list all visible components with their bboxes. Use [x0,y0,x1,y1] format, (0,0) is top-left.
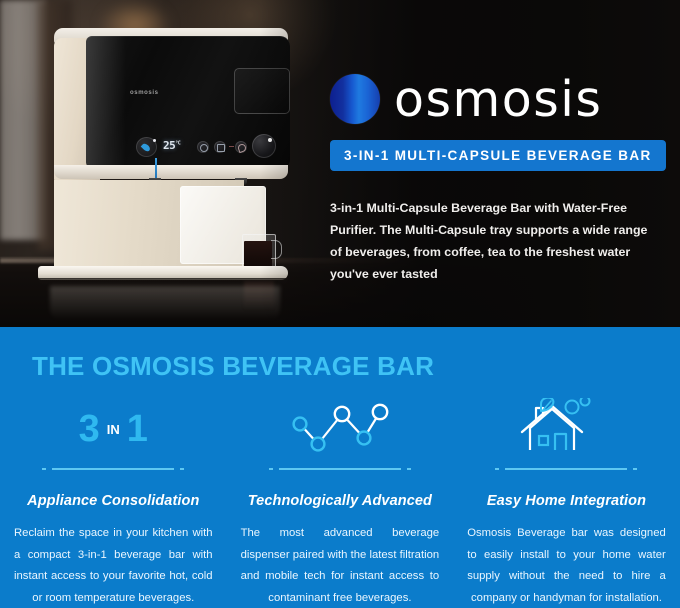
power-icon [200,144,208,152]
feature-title: Appliance Consolidation [14,493,213,509]
divider-tip-left [42,468,46,470]
feature-body: The most advanced beverage dispenser pai… [241,523,440,608]
steam-button [235,141,247,153]
power-button [197,141,209,153]
feature-divider [40,467,186,471]
three-in-one-icon: 3 IN 1 [14,397,213,461]
capsule-icon [217,144,225,152]
hero-section: Osmosis 25°C [0,0,680,327]
feature-card-appliance-consolidation: 3 IN 1 Appliance Consolidation Reclaim t… [0,397,227,608]
osmosis-wordmark: osmosis [394,75,602,124]
temperature-value: 25 [163,139,175,152]
divider-tip-right [407,468,411,470]
three-in-one-last: 1 [127,410,148,448]
capsule-button [214,141,226,153]
hero-description: 3-in-1 Multi-Capsule Beverage Bar with W… [330,197,656,285]
machine-reflection [50,286,280,320]
feature-divider [267,467,413,471]
machine-blue-light-strip [155,158,157,180]
feature-body: Reclaim the space in your kitchen with a… [14,523,213,608]
indicator-dot [153,139,156,142]
machine-tray-shadow [38,278,288,285]
temperature-unit: °C [175,140,180,146]
divider-bar [279,468,401,470]
machine-control-panel: 25°C [136,136,266,158]
temperature-readout: 25°C [163,139,180,152]
feature-card-technologically-advanced: Technologically Advanced The most advanc… [227,397,454,608]
machine-lower-rail [54,165,288,179]
feature-card-easy-home-integration: Easy Home Integration Osmosis Beverage b… [453,397,680,608]
three-in-one-text: 3 IN 1 [79,410,148,448]
line-chart-icon [241,397,440,461]
three-in-one-first: 3 [79,410,100,448]
brand-block: osmosis 3-IN-1 MULTI-CAPSULE BEVERAGE BA… [330,74,660,171]
product-badge: 3-IN-1 MULTI-CAPSULE BEVERAGE BAR [330,140,666,171]
divider-tip-left [269,468,273,470]
divider-tip-right [633,468,637,470]
promo-page: Osmosis 25°C [0,0,680,608]
machine-face-gloss [86,36,126,168]
water-drop-icon [141,142,152,153]
osmosis-circle-logo-icon [330,74,380,124]
divider-tip-right [180,468,184,470]
machine-brand-label: Osmosis [130,90,159,96]
divider-tip-left [495,468,499,470]
features-heading: THE OSMOSIS BEVERAGE BAR [32,351,434,382]
logo-row: osmosis [330,74,660,124]
steam-icon [237,143,247,153]
divider-bar [505,468,627,470]
feature-body: Osmosis Beverage bar was designed to eas… [467,523,666,608]
feature-title: Technologically Advanced [241,493,440,509]
features-columns: 3 IN 1 Appliance Consolidation Reclaim t… [0,397,680,608]
eco-house-icon [467,397,666,461]
feature-divider [493,467,639,471]
features-section: THE OSMOSIS BEVERAGE BAR 3 IN 1 Applianc… [0,327,680,608]
panel-tick-mark [229,146,234,147]
three-in-one-middle: IN [107,423,120,436]
divider-bar [52,468,174,470]
feature-title: Easy Home Integration [467,493,666,509]
